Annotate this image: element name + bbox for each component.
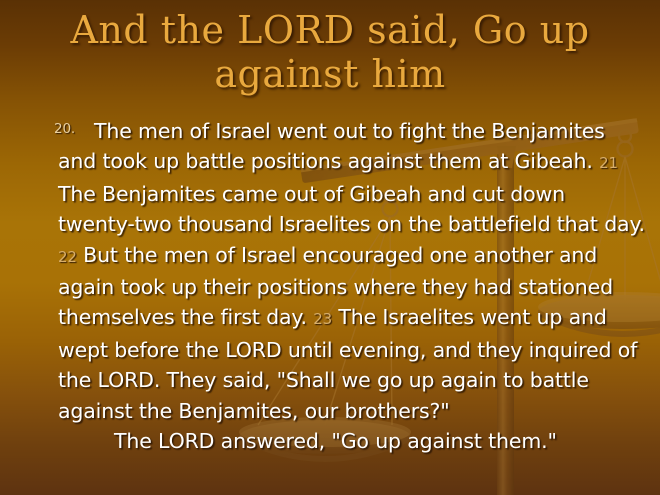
scripture-paragraph: 20. The men of Israel went out to fight … — [18, 116, 646, 426]
slide-body: 20. The men of Israel went out to fight … — [18, 116, 646, 456]
verse-marker-20: 20. — [18, 121, 54, 137]
slide-title: And the LORD said, Go up against him — [0, 8, 660, 96]
verse-number-23: 23 — [313, 310, 332, 328]
verse-number-21: 21 — [599, 154, 618, 172]
scripture-answer-paragraph: The LORD answered, "Go up against them." — [18, 426, 646, 456]
verse-number-22: 22 — [58, 248, 77, 266]
presentation-slide: And the LORD said, Go up against him 20.… — [0, 0, 660, 495]
